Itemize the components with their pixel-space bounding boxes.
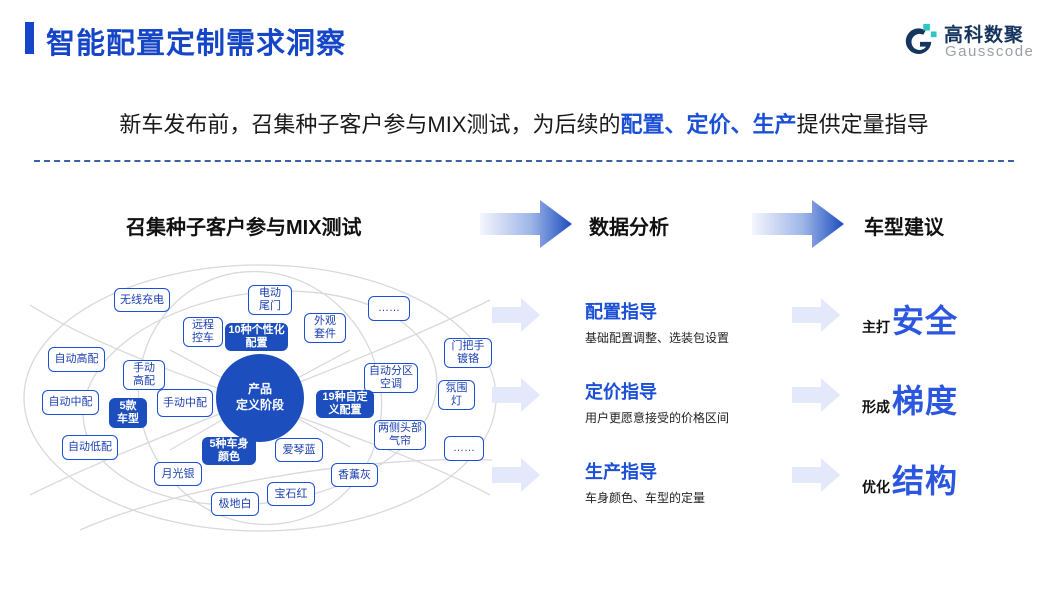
mindmap-node: 两侧头部 气帘 xyxy=(374,420,426,450)
mindmap-node: 5款 车型 xyxy=(109,398,147,428)
mindmap-node: …… xyxy=(368,296,410,321)
stage-header-collect: 召集种子客户参与MIX测试 xyxy=(126,211,362,240)
brand-logo: 高科数聚 Gausscode xyxy=(900,18,1030,64)
recommendation-item-safety: 主打 安全 xyxy=(862,296,958,342)
big-arrow-2-icon xyxy=(752,200,844,248)
mindmap-node: 自动高配 xyxy=(48,347,105,372)
small-arrow-recommendation-3-icon xyxy=(792,458,840,492)
mindmap-node: 自动中配 xyxy=(42,390,99,415)
recommendation-item-tier: 形成 梯度 xyxy=(862,376,958,422)
recommendation-item-structure: 优化 结构 xyxy=(862,456,958,502)
mindmap-node: 门把手 镀铬 xyxy=(444,338,492,368)
recommendation-main: 结构 xyxy=(892,456,958,502)
mindmap-node: 外观 套件 xyxy=(304,313,346,343)
subtitle-post: 提供定量指导 xyxy=(797,112,929,137)
slide-header: 智能配置定制需求洞察 高科数聚 Gausscode xyxy=(0,0,1048,78)
mindmap-node: 宝石红 xyxy=(267,482,315,506)
small-arrow-analysis-3-icon xyxy=(492,458,540,492)
small-arrow-analysis-1-icon xyxy=(492,298,540,332)
mindmap-node: …… xyxy=(444,436,484,461)
subtitle-highlight: 配置、定价、生产 xyxy=(621,112,797,137)
small-arrow-analysis-2-icon xyxy=(492,378,540,412)
mindmap-node: 手动中配 xyxy=(157,389,213,417)
mindmap-node: 极地白 xyxy=(211,492,259,516)
recommendation-main: 安全 xyxy=(892,296,958,342)
mindmap-node: 无线充电 xyxy=(114,288,170,312)
mindmap-node: 手动 高配 xyxy=(123,360,165,390)
mindmap-node: 19种自定 义配置 xyxy=(316,390,374,418)
mindmap-node: 月光银 xyxy=(154,462,202,486)
big-arrow-1-icon xyxy=(480,200,572,248)
recommendation-prefix: 优化 xyxy=(862,477,890,497)
recommendation-prefix: 主打 xyxy=(862,317,890,337)
small-arrow-recommendation-1-icon xyxy=(792,298,840,332)
title-accent-bar xyxy=(25,22,34,54)
mindmap-node: 自动分区 空调 xyxy=(364,363,418,393)
slide-root: 智能配置定制需求洞察 高科数聚 Gausscode 新车发布前，召集种子客户参与… xyxy=(0,0,1048,589)
logo-english-name: Gausscode xyxy=(945,43,1034,60)
mindmap-node: 10种个性化 配置 xyxy=(225,323,288,351)
gausscode-g-logo-icon xyxy=(900,22,938,58)
mindmap-node: 电动 尾门 xyxy=(248,285,292,315)
page-title: 智能配置定制需求洞察 xyxy=(46,20,346,62)
mindmap-node: 5种车身 颜色 xyxy=(202,437,256,465)
mindmap-node: 氛围 灯 xyxy=(438,380,475,410)
small-arrow-recommendation-2-icon xyxy=(792,378,840,412)
mindmap-node: 远程 控车 xyxy=(183,317,223,347)
slide-subtitle: 新车发布前，召集种子客户参与MIX测试，为后续的配置、定价、生产提供定量指导 xyxy=(0,107,1048,139)
section-divider xyxy=(34,160,1014,162)
mindmap-hub-node: 产品 定义阶段 xyxy=(216,354,304,442)
stage-header-recommendation: 车型建议 xyxy=(864,211,944,240)
mindmap-node: 爱琴蓝 xyxy=(275,438,323,462)
recommendation-main: 梯度 xyxy=(892,376,958,422)
subtitle-pre: 新车发布前，召集种子客户参与MIX测试，为后续的 xyxy=(119,112,620,137)
mindmap-node: 香薰灰 xyxy=(331,463,378,487)
stage-header-analysis: 数据分析 xyxy=(589,211,669,240)
mindmap-diagram: 产品 定义阶段 无线充电电动 尾门……远程 控车外观 套件10种个性化 配置门把… xyxy=(20,255,500,535)
mindmap-node: 自动低配 xyxy=(62,435,118,460)
recommendation-prefix: 形成 xyxy=(862,397,890,417)
